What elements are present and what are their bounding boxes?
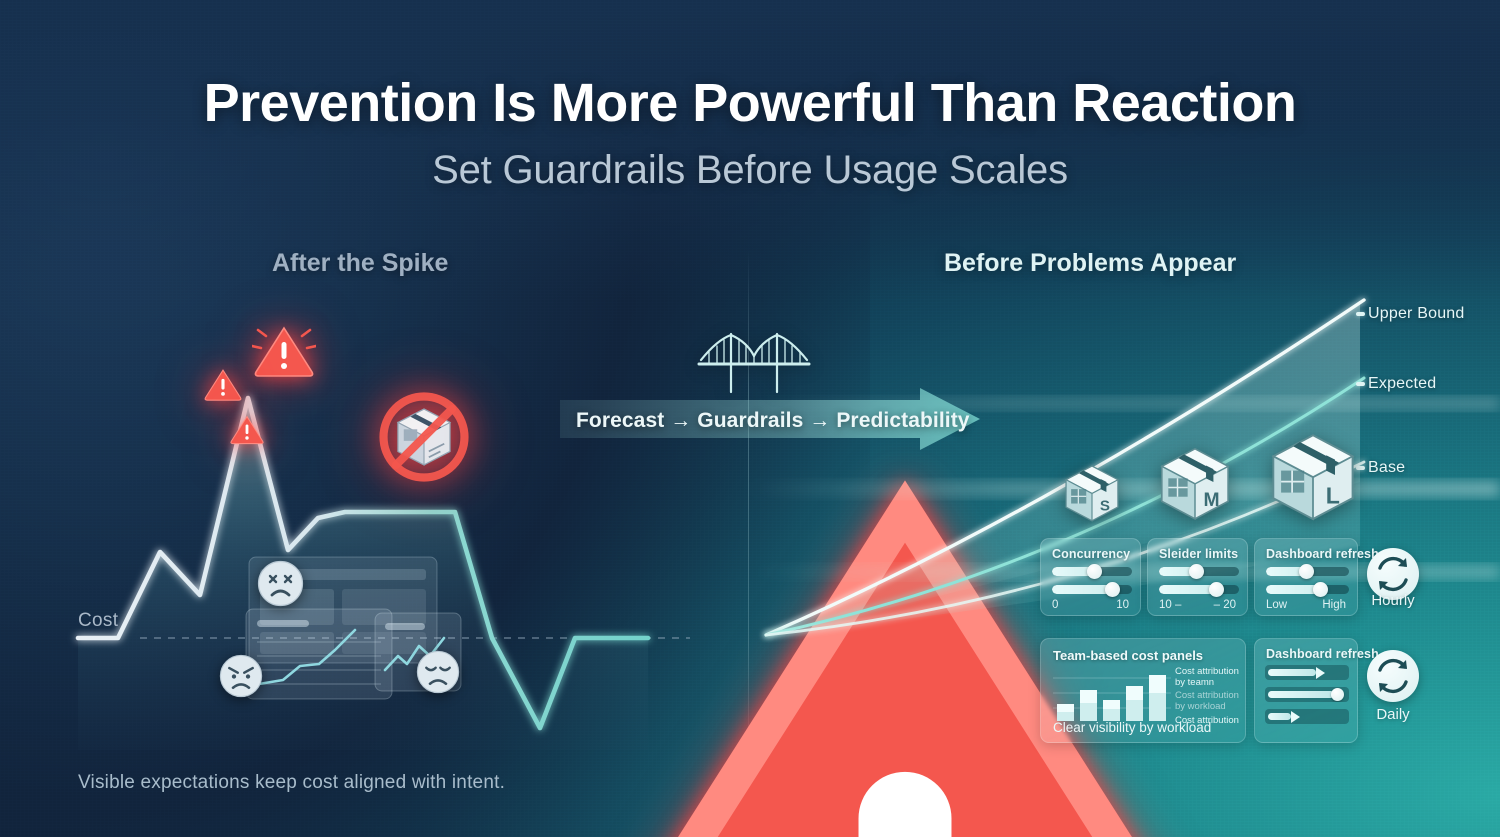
refresh-cycle-icon [1367, 650, 1419, 702]
upper-bound-tick [1356, 312, 1365, 316]
team-cost-footer: Clear visibility by workload [1053, 720, 1211, 735]
slider-track-2[interactable] [1159, 585, 1239, 594]
team-cost-panel[interactable]: Team-based cost panels Cost attribution … [1040, 638, 1246, 743]
slider-max-label: – 20 [1214, 599, 1236, 611]
panel-title: Dashboard refresh [1266, 647, 1379, 661]
legend-line-4: by workload [1175, 701, 1226, 712]
slider-track-2[interactable] [1052, 585, 1132, 594]
slider-panel-sleider-limits[interactable]: Sleider limits 10 – – 20 [1147, 538, 1248, 616]
expected-label: Expected [1368, 375, 1436, 393]
slider-panel-concurrency[interactable]: Concurrency 0 10 [1040, 538, 1141, 616]
slider-min-label: Low [1266, 599, 1287, 611]
refresh-arrow-row-3[interactable] [1265, 709, 1349, 724]
slider-knob-1[interactable] [1087, 564, 1102, 579]
svg-text:L: L [1326, 483, 1340, 509]
refresh-badge-daily[interactable] [1367, 650, 1419, 702]
panel-title: Concurrency [1052, 547, 1130, 561]
warning-triangle-icon [252, 322, 316, 380]
svg-text:S: S [1100, 498, 1110, 515]
panel-title: Dashboard refresh [1266, 547, 1379, 561]
cost-axis-label: Cost [78, 610, 118, 632]
package-box-icon-m: M [1149, 436, 1241, 528]
slider-max-label: High [1322, 599, 1346, 611]
legend-line-3: Cost attribution [1175, 690, 1239, 701]
slider-panel-dashboard-refresh[interactable]: Dashboard refresh Low High [1254, 538, 1358, 616]
panel-title: Sleider limits [1159, 547, 1238, 561]
warning-triangle-icon [229, 413, 265, 446]
page-title: Prevention Is More Powerful Than Reactio… [0, 72, 1500, 134]
page-subtitle: Set Guardrails Before Usage Scales [0, 148, 1500, 193]
package-box-icon-s: S [1056, 456, 1128, 528]
dashboard-refresh-panel[interactable]: Dashboard refresh [1254, 638, 1358, 743]
frowning-face-icon [257, 560, 304, 607]
slider-track-2[interactable] [1266, 585, 1349, 594]
slider-knob-2[interactable] [1105, 582, 1120, 597]
no-package-icon [371, 384, 477, 490]
package-box-icon-l: L [1258, 420, 1368, 530]
weary-face-icon [416, 650, 460, 694]
expected-tick [1356, 382, 1365, 386]
slider-knob-2[interactable] [1313, 582, 1328, 597]
angry-face-icon [219, 654, 263, 698]
warning-triangle-icon [203, 366, 243, 403]
slider-knob-1[interactable] [1189, 564, 1204, 579]
legend-line-2: by teamn [1175, 677, 1214, 688]
slider-max-label: 10 [1116, 599, 1129, 611]
legend-line-1: Cost attribution [1175, 666, 1239, 677]
refresh-label-daily: Daily [1348, 706, 1438, 723]
slider-knob-2[interactable] [1209, 582, 1224, 597]
refresh-arrow-row-1[interactable] [1265, 665, 1349, 680]
refresh-arrow-row-2[interactable] [1265, 687, 1349, 702]
upper-bound-label: Upper Bound [1368, 305, 1465, 323]
refresh-label-hourly: Hourly [1348, 592, 1438, 609]
slider-min-label: 10 – [1159, 599, 1181, 611]
infographic-canvas: Prevention Is More Powerful Than Reactio… [0, 0, 1500, 837]
slider-min-label: 0 [1052, 599, 1058, 611]
team-cost-title: Team-based cost panels [1053, 648, 1203, 663]
team-cost-bar-chart [1053, 666, 1171, 721]
suspension-bridge-icon [697, 330, 811, 396]
flow-label: Forecast → Guardrails → Predictability [576, 409, 970, 433]
base-label: Base [1368, 459, 1405, 477]
slider-knob-1[interactable] [1299, 564, 1314, 579]
svg-text:M: M [1204, 490, 1220, 511]
